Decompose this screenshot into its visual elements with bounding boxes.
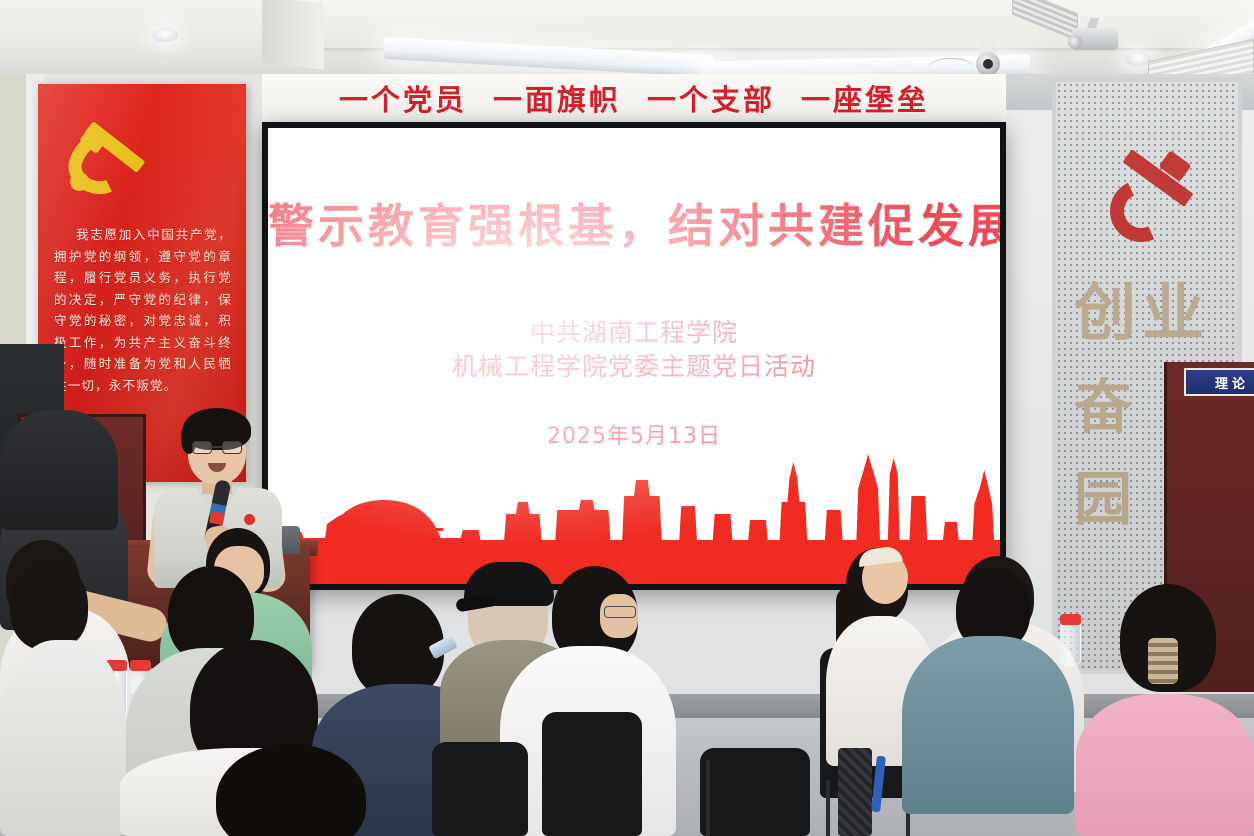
bottle-cap bbox=[130, 660, 151, 671]
audience-torso bbox=[0, 640, 126, 836]
slogan-phrase-2: 一面旗帜 bbox=[493, 77, 621, 119]
hammer-sickle-icon bbox=[1102, 160, 1212, 270]
slide-title: 警示教育强根基，结对共建促发展 bbox=[268, 190, 1000, 256]
chair-leg bbox=[826, 780, 830, 836]
party-badge-icon bbox=[244, 514, 255, 525]
perf-char-row-1: 创业 bbox=[1074, 282, 1234, 344]
slogan-phrase-3: 一个支部 bbox=[647, 77, 775, 119]
ceiling-projector bbox=[1068, 18, 1120, 54]
audience-torso bbox=[1076, 694, 1254, 836]
security-camera-icon bbox=[974, 44, 1002, 78]
glasses-icon bbox=[604, 606, 636, 618]
wall-slogan-banner: 一个党员 一面旗帜 一个支部 一座堡垒 bbox=[262, 76, 1006, 120]
audience-head bbox=[10, 560, 88, 650]
chair bbox=[542, 712, 642, 836]
conference-room-photo: 一个党员 一面旗帜 一个支部 一座堡垒 我志愿加入中国共产党，拥护党的纲领，遵守… bbox=[0, 0, 1254, 836]
chair-leg bbox=[706, 760, 710, 836]
slide-organization: 中共湖南工程学院 机械工程学院党委主题党日活动 bbox=[268, 316, 1000, 384]
slogan-phrase-1: 一个党员 bbox=[339, 77, 467, 119]
slogan-phrase-4: 一座堡垒 bbox=[801, 77, 929, 119]
theory-sign: 理论 bbox=[1184, 368, 1254, 396]
audience-torso bbox=[902, 636, 1074, 814]
theory-sign-label: 理论 bbox=[1215, 373, 1249, 392]
slide-org-line-1: 中共湖南工程学院 bbox=[268, 316, 1000, 350]
ceiling-beam bbox=[262, 0, 324, 70]
projection-screen-frame: 警示教育强根基，结对共建促发展 中共湖南工程学院 机械工程学院党委主题党日活动 … bbox=[262, 122, 1006, 590]
hair-clip-icon bbox=[1148, 638, 1178, 684]
chair bbox=[432, 742, 528, 836]
recessed-downlight bbox=[152, 28, 178, 42]
chair bbox=[700, 748, 810, 836]
presentation-slide: 警示教育强根基，结对共建促发展 中共湖南工程学院 机械工程学院党委主题党日活动 … bbox=[268, 128, 1000, 584]
audience-torso bbox=[0, 410, 118, 530]
hanging-bag bbox=[838, 748, 872, 836]
slide-org-line-2: 机械工程学院党委主题党日活动 bbox=[268, 350, 1000, 384]
bottle-cap bbox=[1060, 614, 1081, 625]
glasses-icon bbox=[192, 441, 242, 454]
